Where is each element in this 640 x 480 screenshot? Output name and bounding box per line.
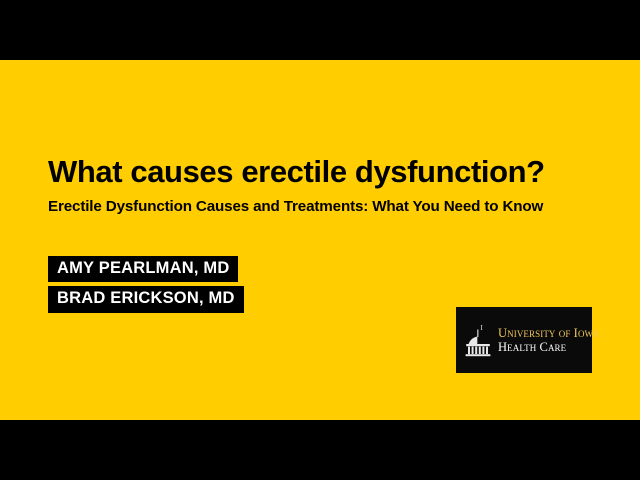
page-title: What causes erectile dysfunction? [48, 155, 608, 189]
logo-line-university-of-iowa: University of Iowa [498, 327, 599, 340]
speaker-name-plate: BRAD ERICKSON, MD [48, 286, 244, 312]
logo-wordmark: University of Iowa Health Care [498, 327, 599, 353]
university-of-iowa-health-care-logo: I University of Iowa Health Care [456, 307, 592, 373]
svg-text:I: I [481, 324, 484, 332]
letterbox-bar-top [0, 0, 640, 60]
title-block: What causes erectile dysfunction? Erecti… [48, 155, 608, 215]
speaker-list: AMY PEARLMAN, MD BRAD ERICKSON, MD [48, 256, 244, 313]
logo-line-health-care: Health Care [498, 341, 599, 354]
letterbox-bar-bottom [0, 420, 640, 480]
video-frame: What causes erectile dysfunction? Erecti… [0, 0, 640, 480]
slide-subtitle: Erectile Dysfunction Causes and Treatmen… [48, 198, 608, 215]
old-capitol-building-icon: I [463, 323, 493, 357]
speaker-name-plate: AMY PEARLMAN, MD [48, 256, 238, 282]
